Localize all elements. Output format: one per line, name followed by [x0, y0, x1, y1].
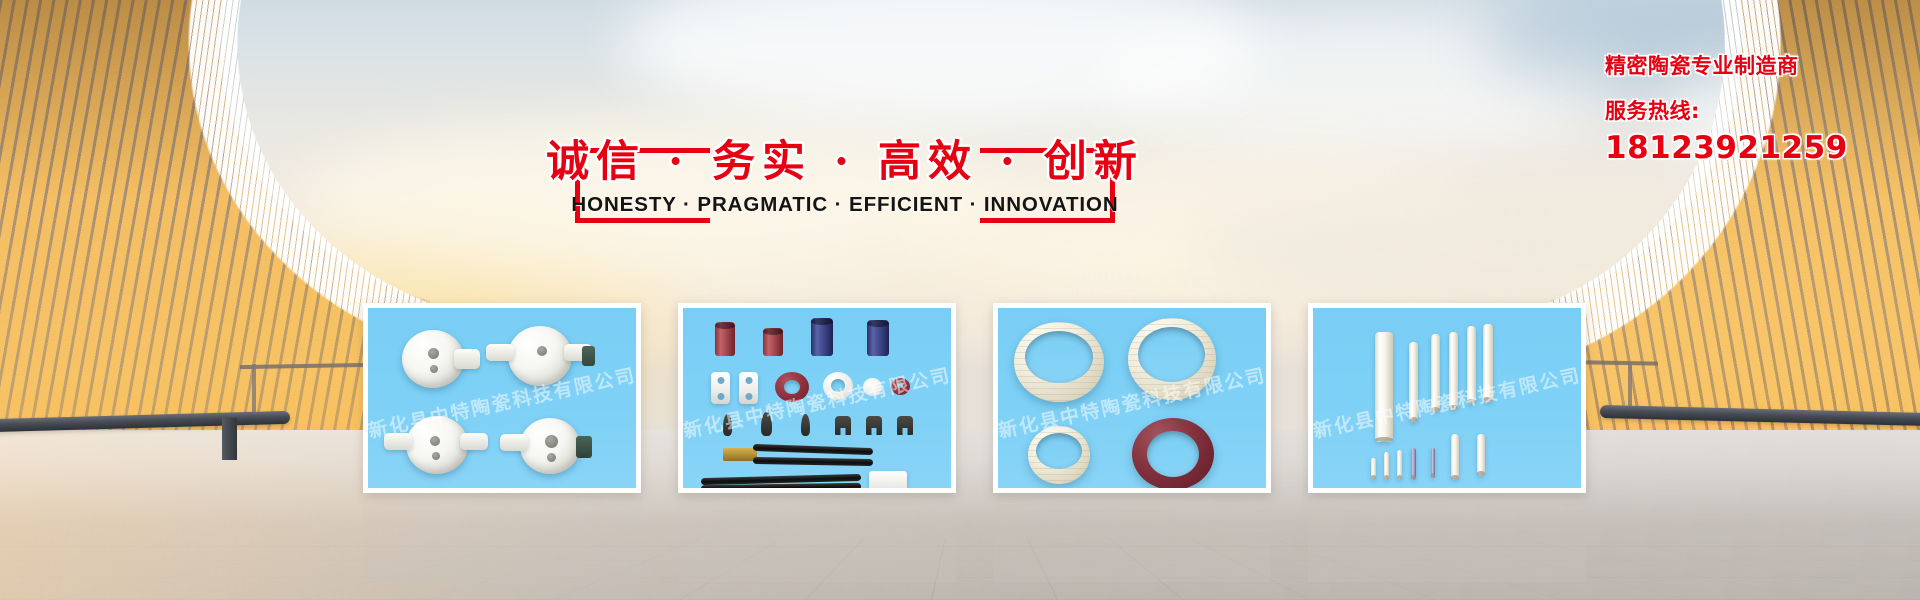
- product-image-lamp-holders: 新化县中特陶瓷科技有限公司: [368, 308, 636, 488]
- metal-clip: [723, 414, 732, 436]
- product-image-ceramic-rods: 新化县中特陶瓷科技有限公司: [1313, 308, 1581, 488]
- ceramic-rod-purple: [1431, 448, 1435, 478]
- metal-contact: [866, 416, 882, 435]
- ceramic-ring-maroon: [1132, 418, 1214, 488]
- ceramic-ring-small: [1028, 426, 1090, 484]
- hero-banner: 诚信 · 务实 · 高效 · 创新 HONESTY · PRAGMATIC · …: [0, 0, 1920, 600]
- ceramic-sleeve-red: [763, 328, 783, 356]
- product-image-ceramic-rings: 新化县中特陶瓷科技有限公司: [998, 308, 1266, 488]
- image-watermark: 新化县中特陶瓷科技有限公司: [1313, 360, 1581, 443]
- ceramic-lamp-holder: [520, 418, 580, 474]
- ceramic-sleeve-blue: [811, 318, 833, 356]
- ceramic-rod: [1375, 332, 1393, 442]
- product-panel-row: 新化县中特陶瓷科技有限公司: [0, 0, 1920, 600]
- ceramic-rod-short: [1451, 434, 1459, 480]
- ceramic-rod: [1483, 324, 1493, 402]
- ceramic-rod: [1431, 334, 1440, 412]
- ceramic-rod-short: [1384, 452, 1389, 480]
- ceramic-sleeve-blue: [867, 320, 889, 356]
- sealing-ring-red: [775, 372, 809, 402]
- ceramic-lamp-holder: [406, 416, 468, 474]
- product-image-sleeves-and-leads: 新化县中特陶瓷科技有限公司: [683, 308, 951, 488]
- metal-contact: [897, 416, 913, 435]
- ceramic-rod-short: [1397, 450, 1402, 480]
- ceramic-rod-short: [1477, 434, 1485, 476]
- ceramic-rod: [1467, 326, 1476, 404]
- ceramic-lamp-holder: [508, 326, 572, 386]
- ceramic-rod: [1449, 332, 1458, 410]
- lead-wire: [753, 444, 873, 455]
- product-panel-3[interactable]: 新化县中特陶瓷科技有限公司: [993, 303, 1271, 493]
- product-panel-1[interactable]: 新化县中特陶瓷科技有限公司: [363, 303, 641, 493]
- metal-contact: [835, 416, 851, 435]
- ceramic-plate: [711, 372, 730, 404]
- ceramic-rod-purple: [1411, 448, 1416, 480]
- brass-terminal: [723, 448, 757, 461]
- wire-connector: [869, 471, 907, 488]
- lead-wire: [753, 457, 873, 466]
- metal-clip: [801, 414, 810, 436]
- product-panel-2[interactable]: 新化县中特陶瓷科技有限公司: [678, 303, 956, 493]
- product-panel-4[interactable]: 新化县中特陶瓷科技有限公司: [1308, 303, 1586, 493]
- ceramic-cap-white: [863, 378, 882, 396]
- metal-clip: [761, 412, 772, 436]
- ceramic-lamp-holder: [402, 330, 464, 388]
- ceramic-rod-short: [1371, 458, 1376, 480]
- ceramic-rod: [1409, 342, 1418, 422]
- sealing-ring-white: [823, 372, 853, 400]
- ceramic-ring-large: [1014, 322, 1104, 402]
- ceramic-plate: [739, 372, 758, 404]
- sealing-washer-red: [891, 378, 910, 395]
- ceramic-sleeve-red: [715, 322, 735, 356]
- ceramic-ring-large: [1128, 318, 1216, 400]
